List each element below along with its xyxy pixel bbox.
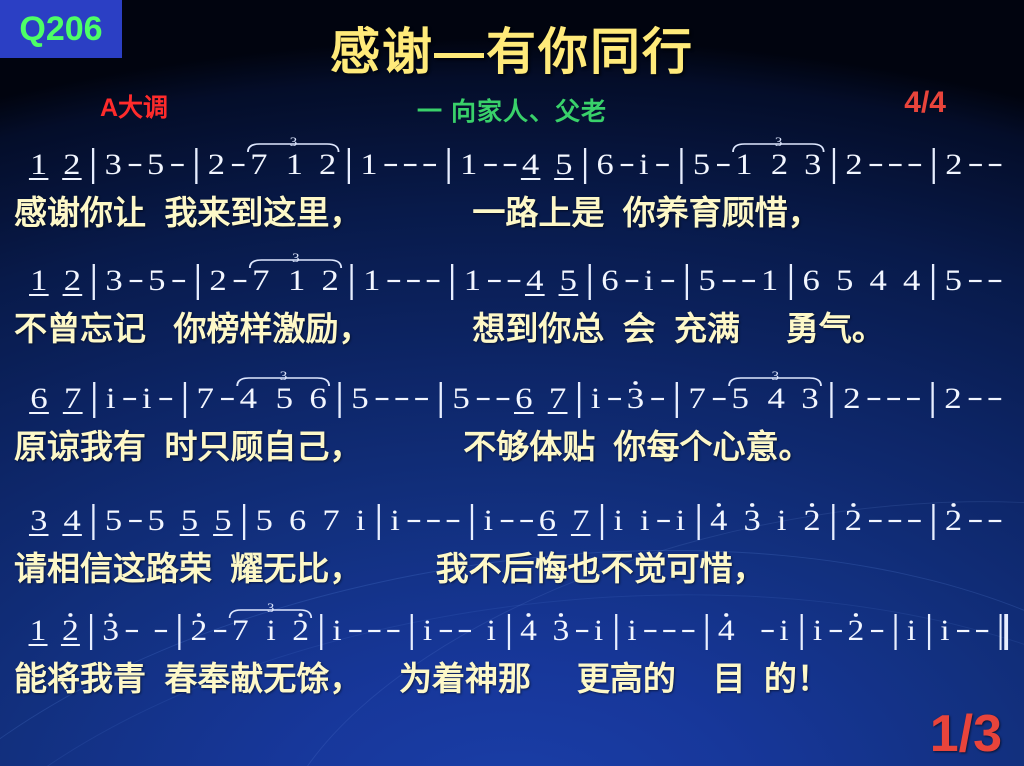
svg-text:4: 4 xyxy=(526,264,543,297)
svg-text:5: 5 xyxy=(276,382,293,415)
svg-text:3: 3 xyxy=(280,370,288,384)
svg-text:1: 1 xyxy=(30,147,47,180)
svg-text:1: 1 xyxy=(30,614,47,647)
svg-text:3: 3 xyxy=(801,382,818,415)
stanza-1: 12352712311456i5123322 感谢你让 我来到这里， 一路上是 … xyxy=(0,136,1024,238)
svg-text:3: 3 xyxy=(772,370,780,384)
svg-text:7: 7 xyxy=(322,503,339,536)
svg-text:i: i xyxy=(483,503,493,536)
svg-text:1: 1 xyxy=(286,147,303,180)
lyrics-line: 感谢你让 我来到这里， 一路上是 你养育顾惜， xyxy=(0,188,1024,238)
svg-text:i: i xyxy=(142,382,152,415)
svg-text:3: 3 xyxy=(102,614,119,647)
svg-text:3: 3 xyxy=(627,382,644,415)
notation-svg: 12352712311456i5123322 xyxy=(14,136,1024,188)
svg-text:i: i xyxy=(640,503,650,536)
svg-text:6: 6 xyxy=(289,503,306,536)
svg-text:1: 1 xyxy=(761,264,778,297)
svg-text:2: 2 xyxy=(191,614,208,647)
svg-text:6: 6 xyxy=(515,382,532,415)
svg-text:i: i xyxy=(779,614,788,647)
svg-text:i: i xyxy=(813,614,822,647)
svg-text:7: 7 xyxy=(688,382,705,415)
svg-text:7: 7 xyxy=(64,382,81,415)
svg-text:4: 4 xyxy=(63,503,80,536)
svg-text:i: i xyxy=(644,264,654,297)
stanza-2: 12352712311456i5165445 不曾忘记 你榜样激励， 想到你总 … xyxy=(0,252,1024,354)
svg-text:6: 6 xyxy=(597,147,614,180)
svg-text:1: 1 xyxy=(735,147,752,180)
time-signature-label: 4/4 xyxy=(904,86,946,120)
notation-svg: 67ii745635567i37543322 xyxy=(14,370,1024,422)
svg-text:2: 2 xyxy=(64,264,81,297)
svg-text:5: 5 xyxy=(945,264,962,297)
svg-text:1: 1 xyxy=(363,264,380,297)
svg-text:3: 3 xyxy=(105,264,122,297)
svg-text:2: 2 xyxy=(848,614,865,647)
svg-text:2: 2 xyxy=(945,147,962,180)
slide-canvas: Q206 感谢—有你同行 A大调 一 向家人、父老 4/4 1235271231… xyxy=(0,0,1024,766)
svg-text:i: i xyxy=(487,614,496,647)
svg-text:2: 2 xyxy=(319,147,336,180)
svg-text:i: i xyxy=(639,147,649,180)
svg-text:2: 2 xyxy=(945,503,962,536)
svg-text:i: i xyxy=(106,382,116,415)
svg-text:4: 4 xyxy=(718,614,735,647)
svg-text:5: 5 xyxy=(836,264,853,297)
svg-text:4: 4 xyxy=(767,382,784,415)
svg-text:4: 4 xyxy=(522,147,539,180)
svg-text:6: 6 xyxy=(802,264,819,297)
svg-text:3: 3 xyxy=(775,136,782,150)
svg-text:i: i xyxy=(614,503,624,536)
stanza-5: 12327i23iii43ii4ii2ii 能将我青 春奉献无馀， 为着神那 更… xyxy=(0,602,1024,704)
notation-line: 12327i23iii43ii4ii2ii xyxy=(0,602,1024,654)
svg-text:3: 3 xyxy=(292,252,300,266)
svg-text:3: 3 xyxy=(553,614,570,647)
svg-text:7: 7 xyxy=(572,503,589,536)
notation-svg: 345555567iii67iii43i222 xyxy=(14,492,1024,544)
svg-text:i: i xyxy=(940,614,949,647)
svg-text:2: 2 xyxy=(292,614,309,647)
svg-text:2: 2 xyxy=(208,147,225,180)
svg-text:5: 5 xyxy=(560,264,577,297)
lyrics-line: 请相信这路荣 耀无比， 我不后悔也不觉可惜， xyxy=(0,544,1024,594)
notation-line: 12352712311456i5123322 xyxy=(0,136,1024,188)
svg-text:2: 2 xyxy=(771,147,788,180)
svg-text:i: i xyxy=(356,503,366,536)
svg-text:4: 4 xyxy=(710,503,727,536)
svg-text:2: 2 xyxy=(845,147,862,180)
svg-text:5: 5 xyxy=(148,264,165,297)
svg-text:4: 4 xyxy=(520,614,537,647)
svg-text:6: 6 xyxy=(539,503,556,536)
svg-text:5: 5 xyxy=(452,382,469,415)
svg-text:5: 5 xyxy=(105,503,122,536)
svg-text:2: 2 xyxy=(209,264,226,297)
stanza-4: 345555567iii67iii43i222 请相信这路荣 耀无比， 我不后悔… xyxy=(0,492,1024,594)
svg-text:7: 7 xyxy=(232,614,249,647)
svg-text:i: i xyxy=(332,614,341,647)
svg-text:1: 1 xyxy=(288,264,305,297)
svg-text:5: 5 xyxy=(698,264,715,297)
lyrics-line: 不曾忘记 你榜样激励， 想到你总 会 充满 勇气。 xyxy=(0,304,1024,354)
svg-text:i: i xyxy=(267,614,276,647)
svg-text:2: 2 xyxy=(944,382,961,415)
svg-text:2: 2 xyxy=(322,264,339,297)
svg-text:2: 2 xyxy=(63,147,80,180)
svg-text:5: 5 xyxy=(555,147,572,180)
svg-text:5: 5 xyxy=(181,503,198,536)
svg-text:i: i xyxy=(591,382,601,415)
svg-text:4: 4 xyxy=(903,264,920,297)
svg-text:1: 1 xyxy=(460,147,477,180)
svg-text:3: 3 xyxy=(105,147,122,180)
page-number: 1/3 xyxy=(930,704,1002,764)
svg-text:i: i xyxy=(594,614,603,647)
svg-text:1: 1 xyxy=(464,264,481,297)
svg-text:3: 3 xyxy=(804,147,821,180)
svg-text:3: 3 xyxy=(30,503,47,536)
subtitle-label: 一 向家人、父老 xyxy=(0,92,1024,128)
page-title: 感谢—有你同行 xyxy=(0,12,1024,84)
svg-text:i: i xyxy=(777,503,787,536)
svg-text:i: i xyxy=(627,614,636,647)
svg-text:5: 5 xyxy=(731,382,748,415)
notation-svg: 12352712311456i5165445 xyxy=(14,252,1024,304)
svg-text:5: 5 xyxy=(147,147,164,180)
svg-text:2: 2 xyxy=(845,503,862,536)
notation-line: 345555567iii67iii43i222 xyxy=(0,492,1024,544)
svg-text:6: 6 xyxy=(601,264,618,297)
svg-text:4: 4 xyxy=(870,264,887,297)
svg-text:i: i xyxy=(390,503,400,536)
svg-text:6: 6 xyxy=(30,382,47,415)
svg-text:3: 3 xyxy=(744,503,761,536)
svg-text:5: 5 xyxy=(693,147,710,180)
svg-text:1: 1 xyxy=(30,264,47,297)
lyrics-line: 能将我青 春奉献无馀， 为着神那 更高的 目 的！ xyxy=(0,654,1024,704)
svg-text:5: 5 xyxy=(256,503,273,536)
stanza-3: 67ii745635567i37543322 原谅我有 时只顾自己， 不够体贴 … xyxy=(0,370,1024,472)
svg-text:7: 7 xyxy=(549,382,566,415)
lyrics-line: 原谅我有 时只顾自己， 不够体贴 你每个心意。 xyxy=(0,422,1024,472)
svg-text:5: 5 xyxy=(214,503,231,536)
svg-text:2: 2 xyxy=(803,503,820,536)
svg-text:5: 5 xyxy=(351,382,368,415)
svg-text:3: 3 xyxy=(267,602,274,615)
svg-text:7: 7 xyxy=(252,264,269,297)
svg-text:7: 7 xyxy=(250,147,267,180)
svg-text:2: 2 xyxy=(62,614,79,647)
svg-text:i: i xyxy=(676,503,686,536)
svg-text:5: 5 xyxy=(147,503,164,536)
svg-text:2: 2 xyxy=(843,382,860,415)
notation-line: 67ii745635567i37543322 xyxy=(0,370,1024,422)
svg-text:7: 7 xyxy=(197,382,214,415)
svg-text:4: 4 xyxy=(240,382,257,415)
svg-text:1: 1 xyxy=(360,147,377,180)
svg-text:6: 6 xyxy=(309,382,326,415)
notation-svg: 12327i23iii43ii4ii2ii xyxy=(14,602,1024,654)
notation-line: 12352712311456i5165445 xyxy=(0,252,1024,304)
svg-text:3: 3 xyxy=(290,136,297,150)
svg-text:i: i xyxy=(907,614,916,647)
svg-text:i: i xyxy=(423,614,432,647)
